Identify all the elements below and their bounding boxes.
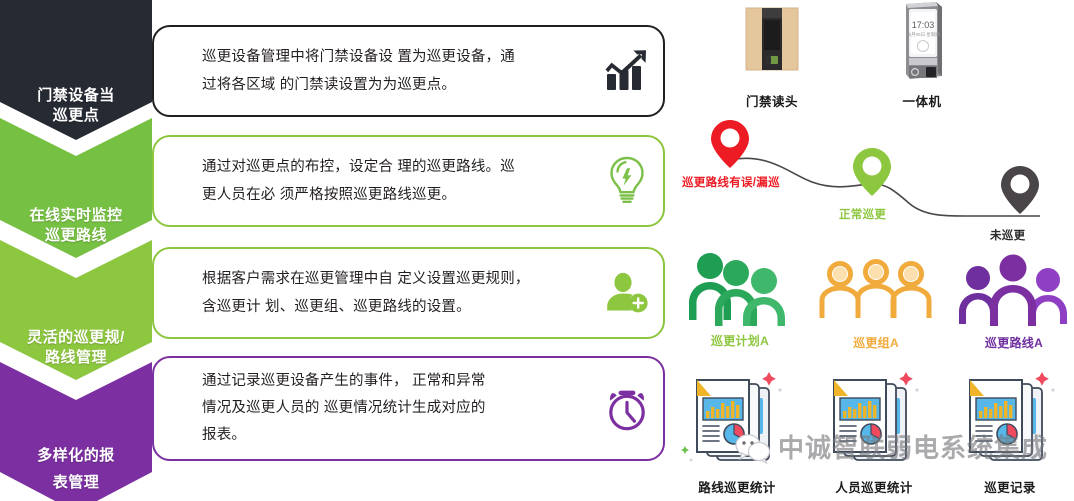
infographic-page: 门禁设备当 巡更点 在线实时监控 巡更路线 灵活的巡更规/ 路线管理 — [0, 0, 1074, 501]
chevron-step-1-label: 门禁设备当 巡更点 — [12, 86, 140, 127]
trending-up-chart-icon — [591, 48, 663, 94]
chevron-step-4[interactable]: 多样化的报 表管理 — [0, 362, 152, 501]
svg-text:17:03: 17:03 — [912, 20, 935, 30]
map-pin-not-patrolled[interactable] — [1001, 166, 1039, 214]
step-card-4-line-3: 报表。 — [202, 422, 585, 449]
report-document-icon — [814, 364, 934, 472]
step-card-4[interactable]: 通过记录巡更设备产生的事件， 正常和异常 情况及巡更人员的 巡更情况统计生成对应… — [152, 356, 665, 461]
people-group-icon — [680, 248, 800, 326]
step-card-1-text: 巡更设备管理中将门禁设备设 置为巡更设备，通 过将各区域 的门禁读设置为为巡更点… — [154, 43, 591, 100]
map-pin-route-error[interactable] — [711, 120, 749, 168]
map-pin-not-patrolled-caption: 未巡更 — [990, 227, 1025, 243]
map-pin-normal-patrol[interactable] — [853, 148, 891, 196]
lightbulb-icon — [591, 155, 663, 207]
chevron-step-3-line-1: 灵活的巡更规/ — [12, 328, 140, 348]
chevron-step-2-label: 在线实时监控 巡更路线 — [12, 206, 140, 247]
report-document-icon — [677, 364, 797, 472]
process-steps-chevron-stack: 门禁设备当 巡更点 在线实时监控 巡更路线 灵活的巡更规/ 路线管理 — [0, 0, 152, 501]
report-item-personnel-stats[interactable]: 人员巡更统计 — [814, 364, 934, 496]
face-terminal-photo: 17:03 12月05日 星期四 — [892, 0, 952, 82]
step-card-1-line-2: 过将各区域 的门禁读设置为为巡更点。 — [202, 71, 585, 99]
chevron-step-3-label: 灵活的巡更规/ 路线管理 — [12, 328, 140, 369]
chevron-step-2-line-2: 巡更路线 — [12, 226, 140, 246]
step-card-2-line-1: 通过对巡更点的布控，设定合 理的巡更路线。巡 — [202, 153, 585, 181]
step-card-3-line-1: 根据客户需求在巡更管理中自 定义设置巡更规则， — [202, 265, 585, 293]
step-card-3-text: 根据客户需求在巡更管理中自 定义设置巡更规则， 含巡更计 划、巡更组、巡更路线的… — [154, 265, 591, 322]
group-item-route-caption: 巡更路线A — [954, 334, 1074, 351]
report-item-route-stats[interactable]: 路线巡更统计 — [677, 364, 797, 496]
chevron-step-3[interactable]: 灵活的巡更规/ 路线管理 — [0, 240, 152, 380]
people-group-icon — [816, 258, 936, 328]
report-item-patrol-records-caption: 巡更记录 — [950, 477, 1070, 496]
chevron-step-4-label: 多样化的报 表管理 — [12, 442, 140, 496]
step-card-1[interactable]: 巡更设备管理中将门禁设备设 置为巡更设备，通 过将各区域 的门禁读设置为为巡更点… — [152, 25, 665, 117]
group-item-team-caption: 巡更组A — [816, 334, 936, 351]
step-card-4-line-2: 情况及巡更人员的 巡更情况统计生成对应的 — [202, 395, 585, 422]
group-item-route[interactable]: 巡更路线A — [954, 250, 1074, 351]
chevron-step-2[interactable]: 在线实时监控 巡更路线 — [0, 118, 152, 258]
right-illustration-panel: 门禁读头 17:03 12月05日 星期四 一体机 — [672, 0, 1074, 501]
step-card-2[interactable]: 通过对巡更点的布控，设定合 理的巡更路线。巡 更人员在必 须严格按照巡更路线巡更… — [152, 135, 665, 227]
report-document-icon — [950, 364, 1070, 472]
map-pin-normal-patrol-caption: 正常巡更 — [839, 206, 886, 222]
group-item-plan-caption: 巡更计划A — [680, 332, 800, 349]
step-card-4-line-1: 通过记录巡更设备产生的事件， 正常和异常 — [202, 368, 585, 395]
step-card-3-line-2: 含巡更计 划、巡更组、巡更路线的设置。 — [202, 293, 585, 321]
report-item-route-stats-caption: 路线巡更统计 — [677, 477, 797, 496]
step-card-3[interactable]: 根据客户需求在巡更管理中自 定义设置巡更规则， 含巡更计 划、巡更组、巡更路线的… — [152, 247, 665, 339]
report-item-patrol-records[interactable]: 巡更记录 — [950, 364, 1070, 496]
group-item-plan[interactable]: 巡更计划A — [680, 248, 800, 349]
people-group-icon — [954, 250, 1074, 328]
chevron-step-4-line-1: 多样化的报 — [12, 442, 140, 469]
card-reader-photo — [738, 4, 806, 82]
step-card-2-text: 通过对巡更点的布控，设定合 理的巡更路线。巡 更人员在必 须严格按照巡更路线巡更… — [154, 153, 591, 210]
step-card-2-line-2: 更人员在必 须严格按照巡更路线巡更。 — [202, 181, 585, 209]
step-card-1-line-1: 巡更设备管理中将门禁设备设 置为巡更设备，通 — [202, 43, 585, 71]
chevron-step-3-line-2: 路线管理 — [12, 348, 140, 368]
chevron-step-4-line-2: 表管理 — [12, 469, 140, 496]
add-user-icon — [591, 270, 663, 316]
chevron-step-2-line-1: 在线实时监控 — [12, 206, 140, 226]
chevron-step-1-line-2: 巡更点 — [12, 106, 140, 126]
chevron-step-1-line-1: 门禁设备当 — [12, 86, 140, 106]
chevron-step-1[interactable]: 门禁设备当 巡更点 — [0, 0, 152, 140]
device-card-reader: 门禁读头 — [717, 4, 827, 110]
group-item-team[interactable]: 巡更组A — [816, 258, 936, 351]
device-face-terminal: 17:03 12月05日 星期四 一体机 — [867, 0, 977, 110]
alarm-clock-icon — [591, 384, 663, 434]
report-item-personnel-stats-caption: 人员巡更统计 — [814, 477, 934, 496]
map-pin-route-error-caption: 巡更路线有误/漏巡 — [682, 174, 780, 190]
step-card-4-text: 通过记录巡更设备产生的事件， 正常和异常 情况及巡更人员的 巡更情况统计生成对应… — [154, 368, 591, 448]
